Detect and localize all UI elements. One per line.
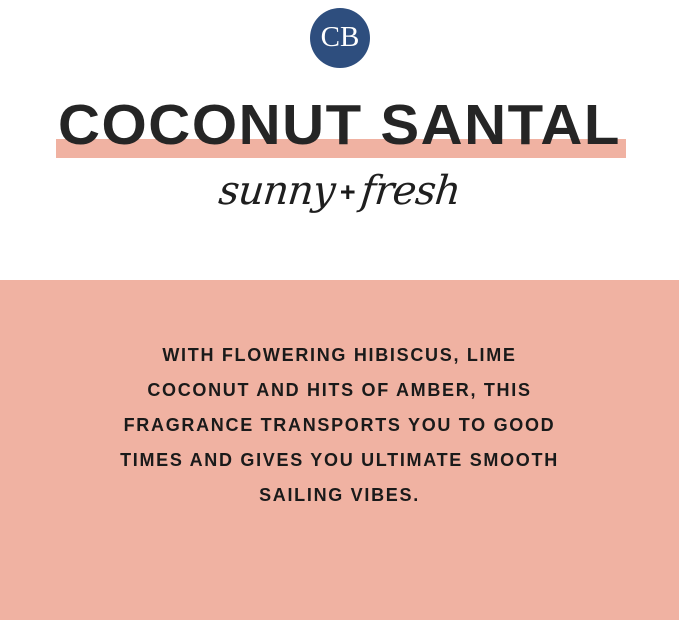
description-text: WITH FLOWERING HIBISCUS, LIME COCONUT AN… — [0, 338, 679, 513]
tagline-word-sunny: sunny — [217, 168, 337, 214]
brand-logo: CB — [310, 8, 370, 68]
description-line: WITH FLOWERING HIBISCUS, LIME — [0, 338, 679, 373]
description-line: FRAGRANCE TRANSPORTS YOU TO GOOD — [0, 408, 679, 443]
plus-icon: + — [335, 169, 361, 215]
description-line: COCONUT AND HITS OF AMBER, THIS — [0, 373, 679, 408]
tagline-word-fresh: fresh — [358, 168, 462, 214]
product-fragrance-card: CB COCONUT SANTAL sunny+fresh WITH FLOWE… — [0, 0, 679, 620]
brand-logo-initials: CB — [321, 23, 360, 52]
description-section: WITH FLOWERING HIBISCUS, LIME COCONUT AN… — [0, 280, 679, 620]
page-title: COCONUT SANTAL — [0, 96, 679, 154]
header-section: CB COCONUT SANTAL sunny+fresh — [0, 0, 679, 280]
description-line: SAILING VIBES. — [0, 478, 679, 513]
tagline: sunny+fresh — [0, 168, 679, 218]
description-line: TIMES AND GIVES YOU ULTIMATE SMOOTH — [0, 443, 679, 478]
title-block: COCONUT SANTAL — [0, 96, 679, 162]
